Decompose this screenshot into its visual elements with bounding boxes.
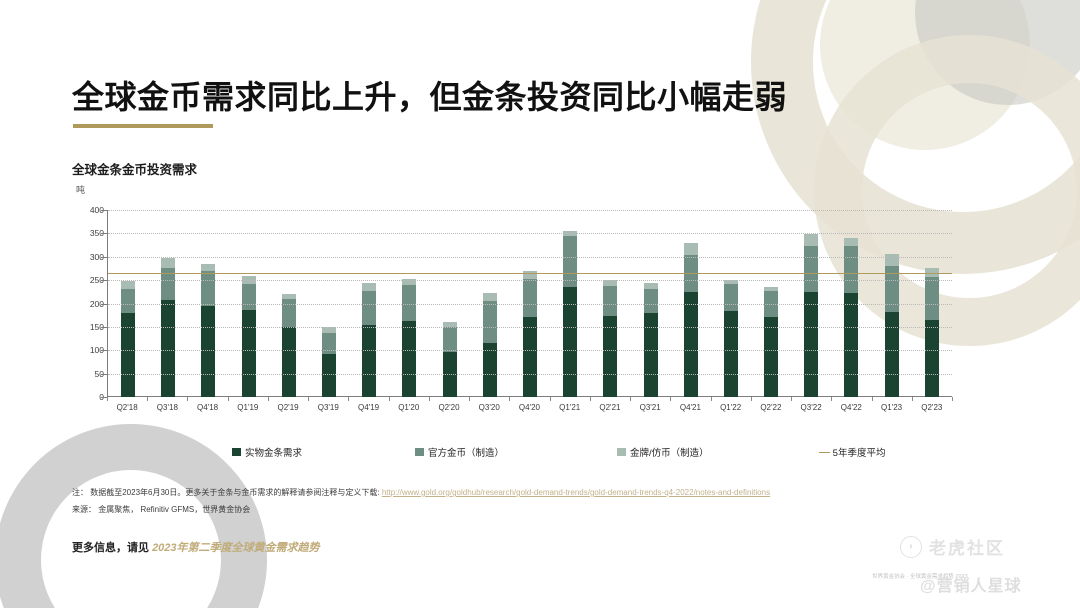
bar-segment [644,289,658,312]
more-info-link[interactable]: 2023年第二季度全球黄金需求趋势 [152,542,319,554]
stacked-bar[interactable] [483,293,497,397]
x-tick-label: Q2'21 [590,403,630,412]
y-tick-mark [101,304,107,305]
bar-segment [242,284,256,310]
bar-segment [443,327,457,352]
chart-legend: 实物金条需求 官方金币（制造） 金牌/仿币（制造） 5年季度平均 [72,444,952,460]
bar-segment [804,234,818,247]
x-tick-mark [831,397,832,401]
bar-segment [362,291,376,324]
bar-segment [724,311,738,397]
five-year-average-line [108,273,952,274]
slide-root: 全球金币需求同比上升，但金条投资同比小幅走弱 全球金条金币投资需求 吨 0501… [0,0,1080,608]
stacked-bar[interactable] [282,294,296,397]
x-tick-label: Q4'21 [670,403,710,412]
legend-swatch-five-year-average [819,452,830,453]
bar-segment [804,292,818,397]
bar-segment [684,243,698,255]
watermark-brand-secondary: @营销人星球 [920,572,1022,596]
legend-item-five-year-average[interactable]: 5年季度平均 [819,445,886,459]
x-tick-mark [348,397,349,401]
watermark-brand-primary: ◑ 老虎社区 [900,534,1005,559]
x-tick-label: Q2'20 [429,403,469,412]
y-tick-mark [101,257,107,258]
x-tick-mark [751,397,752,401]
gridline [108,280,952,281]
legend-swatch-official-coin [415,448,424,456]
x-tick-label: Q3'22 [791,403,831,412]
y-tick-mark [101,233,107,234]
legend-label-medal-coin: 金牌/仿币（制造） [630,445,709,459]
gridline [108,374,952,375]
y-tick-mark [101,350,107,351]
stacked-bar[interactable] [644,283,658,397]
x-tick-label: Q4'18 [187,403,227,412]
legend-label-five-year-average: 5年季度平均 [833,445,886,459]
bar-segment [121,281,135,289]
x-tick-mark [187,397,188,401]
bar-segment [764,317,778,397]
more-info-label: 更多信息，请见 [72,542,149,554]
x-tick-mark [268,397,269,401]
gridline [108,350,952,351]
x-tick-label: Q4'20 [509,403,549,412]
x-tick-label: Q3'21 [630,403,670,412]
x-tick-mark [711,397,712,401]
y-tick-label: 50 [72,369,104,379]
x-tick-mark [107,397,108,401]
x-tick-mark [630,397,631,401]
bar-segment [603,286,617,315]
bar-segment [201,306,215,397]
bar-segment [925,277,939,320]
x-tick-mark [308,397,309,401]
bar-segment [282,327,296,397]
x-tick-label: Q1'22 [711,403,751,412]
x-tick-mark [147,397,148,401]
bar-segment [121,313,135,397]
bar-segment [844,238,858,246]
footnote-url-link[interactable]: http://www.gold.org/goldhub/research/gol… [382,488,770,497]
legend-item-medal-coin[interactable]: 金牌/仿币（制造） [617,445,709,459]
x-tick-mark [429,397,430,401]
x-tick-label: Q2'23 [912,403,952,412]
x-tick-label: Q1'20 [389,403,429,412]
chart-subtitle: 全球金条金币投资需求 [72,159,197,178]
x-tick-mark [912,397,913,401]
gridline [108,304,952,305]
bar-segment [121,289,135,313]
x-tick-mark [791,397,792,401]
bar-segment [161,258,175,267]
x-tick-mark [550,397,551,401]
stacked-bar[interactable] [121,281,135,397]
bar-segment [523,279,537,317]
legend-item-official-coin[interactable]: 官方金币（制造） [415,445,504,459]
stacked-bar[interactable] [603,280,617,397]
x-tick-mark [469,397,470,401]
y-tick-label: 100 [72,345,104,355]
x-tick-label: Q3'20 [469,403,509,412]
y-tick-mark [101,327,107,328]
y-tick-label: 150 [72,322,104,332]
x-tick-label: Q3'18 [147,403,187,412]
bar-segment [844,293,858,397]
footnote-note-text: 注： 数据截至2023年6月30日。更多关于金条与金币需求的解释请参阅注释与定义… [72,488,380,497]
stacked-bar[interactable] [362,283,376,397]
bar-segment [925,320,939,397]
y-tick-mark [101,210,107,211]
page-title: 全球金币需求同比上升，但金条投资同比小幅走弱 [72,72,787,118]
stacked-bar[interactable] [925,268,939,397]
bar-segment [644,313,658,397]
stacked-bar[interactable] [443,322,457,397]
footnote-note: 注： 数据截至2023年6月30日。更多关于金条与金币需求的解释请参阅注释与定义… [72,487,770,498]
watermark-brand-primary-text: 老虎社区 [929,534,1005,559]
legend-label-bar-demand: 实物金条需求 [245,445,302,459]
x-tick-label: Q1'21 [550,403,590,412]
legend-swatch-bar-demand [232,448,241,456]
x-tick-mark [228,397,229,401]
x-tick-mark [389,397,390,401]
y-tick-mark [101,280,107,281]
x-tick-label: Q3'19 [308,403,348,412]
y-tick-label: 0 [72,392,104,402]
stacked-bar[interactable] [885,254,899,397]
stacked-bar[interactable] [402,279,416,397]
x-tick-label: Q2'19 [268,403,308,412]
x-tick-label: Q2'18 [107,403,147,412]
stacked-bar[interactable] [563,231,577,397]
gridline [108,233,952,234]
legend-label-official-coin: 官方金币（制造） [428,445,504,459]
bar-segment [684,292,698,397]
y-axis-unit-label: 吨 [76,183,85,196]
bar-segment [402,321,416,397]
x-axis-labels: Q2'18Q3'18Q4'18Q1'19Q2'19Q3'19Q4'19Q1'20… [107,399,952,415]
stacked-bar[interactable] [724,280,738,397]
x-tick-label: Q4'19 [348,403,388,412]
legend-swatch-medal-coin [617,448,626,456]
gridline [108,327,952,328]
decorative-circle-grey [915,0,1080,105]
stacked-bar[interactable] [322,327,336,397]
bar-segment [201,271,215,307]
y-tick-label: 300 [72,252,104,262]
watermark-logo-icon: ◑ [900,536,922,558]
y-tick-mark [101,374,107,375]
bar-segment [523,317,537,397]
title-underline-rule [73,124,213,128]
footnote-source: 来源： 金属聚焦， Refinitiv GFMS，世界黄金协会 [72,504,250,515]
stacked-bar-chart: 050100150200250300350400 Q2'18Q3'18Q4'18… [72,200,952,415]
bar-segment [804,246,818,291]
bar-segment [483,293,497,301]
stacked-bar[interactable] [523,271,537,397]
bar-segment [242,310,256,397]
bar-segment [724,284,738,311]
gridline [108,210,952,211]
more-info-line: 更多信息，请见 2023年第二季度全球黄金需求趋势 [72,539,320,555]
bar-segment [362,325,376,397]
x-tick-mark [952,397,953,401]
x-tick-label: Q2'22 [751,403,791,412]
stacked-bar[interactable] [242,276,256,397]
gridline [108,257,952,258]
stacked-bar[interactable] [804,234,818,397]
y-tick-label: 400 [72,205,104,215]
legend-item-bar-demand[interactable]: 实物金条需求 [232,445,302,459]
bar-segment [161,300,175,397]
x-tick-label: Q4'22 [831,403,871,412]
stacked-bar[interactable] [201,264,215,397]
x-tick-mark [590,397,591,401]
x-tick-mark [670,397,671,401]
y-tick-label: 250 [72,275,104,285]
bar-segment [322,354,336,397]
x-tick-mark [509,397,510,401]
bar-segment [362,283,376,291]
y-tick-label: 350 [72,228,104,238]
decorative-circle-beige [820,0,1030,150]
x-tick-label: Q1'23 [871,403,911,412]
y-tick-label: 200 [72,299,104,309]
bar-segment [483,301,497,343]
x-tick-mark [872,397,873,401]
x-tick-label: Q1'19 [228,403,268,412]
plot-area [108,210,952,397]
bar-segment [844,246,858,293]
bar-segment [885,312,899,397]
